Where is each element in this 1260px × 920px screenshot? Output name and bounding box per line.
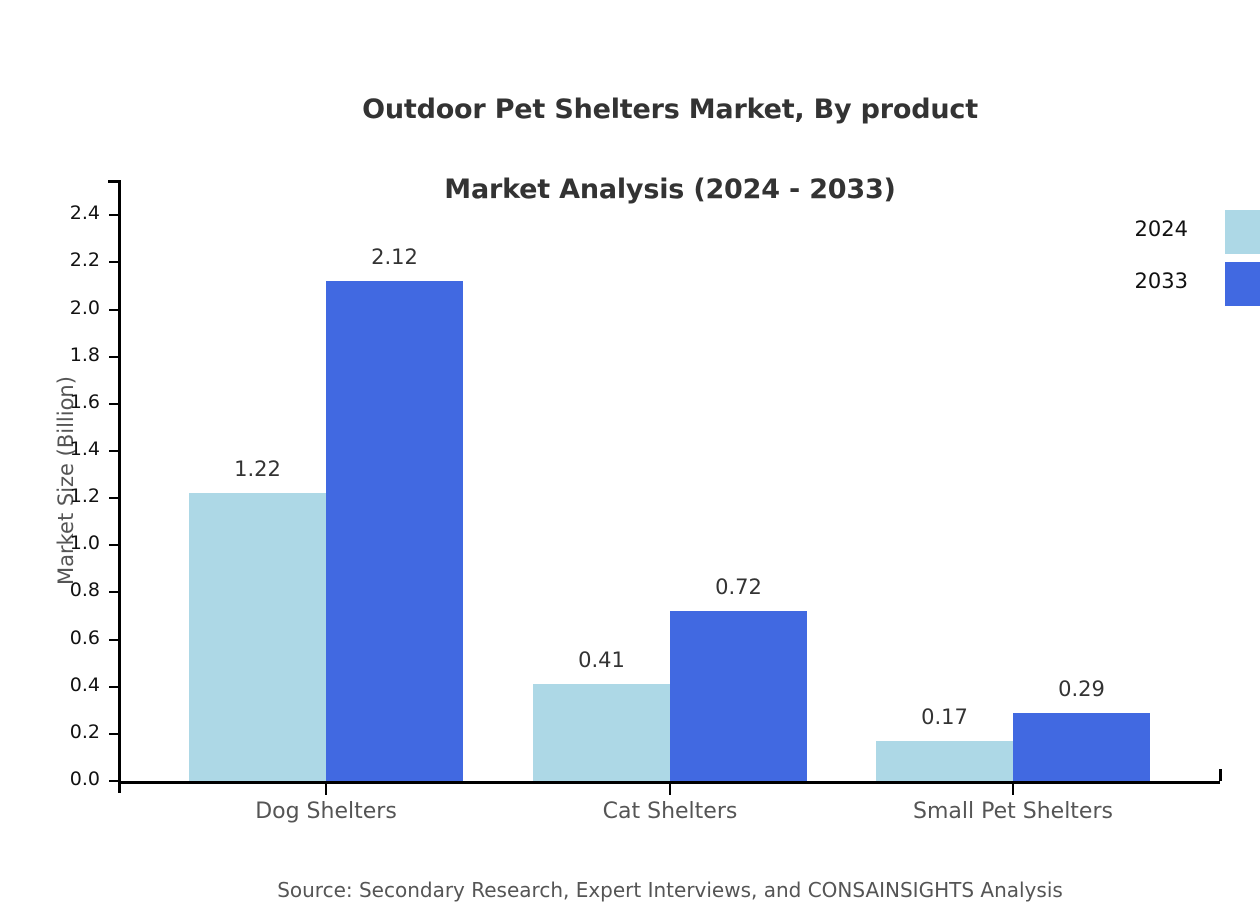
y-axis-line (118, 180, 121, 793)
legend-color-swatch (1225, 262, 1260, 306)
y-axis-tick-label: 1.2 (70, 485, 100, 507)
y-axis-tick (109, 686, 120, 688)
y-axis-tick (109, 497, 120, 499)
y-axis-tick-label: 1.0 (70, 532, 100, 554)
y-axis-tick (109, 450, 120, 452)
y-axis-top-cap (108, 180, 120, 183)
bar-value-label: 0.72 (659, 575, 819, 599)
x-axis-end-cap (1219, 769, 1222, 781)
y-axis-tick-label: 0.4 (70, 674, 100, 696)
y-axis-tick (109, 639, 120, 641)
y-axis-tick (109, 214, 120, 216)
bar-value-label: 0.29 (1002, 677, 1162, 701)
legend-item-2033[interactable]: 2033 (1120, 262, 1260, 306)
chart-title-line-1: Outdoor Pet Shelters Market, By product (0, 90, 1260, 130)
x-axis-tick (1012, 784, 1014, 795)
y-axis-tick (109, 544, 120, 546)
y-axis-tick (109, 261, 120, 263)
legend-color-swatch (1225, 210, 1260, 254)
y-axis-tick-label: 2.0 (70, 297, 100, 319)
plot-area: Market Size (Billion) 0.00.20.40.60.81.0… (120, 180, 1220, 781)
x-axis-tick (325, 784, 327, 795)
y-axis-tick (109, 591, 120, 593)
y-axis-tick-label: 1.4 (70, 438, 100, 460)
x-axis-tick-label: Cat Shelters (510, 799, 830, 824)
y-axis-tick-label: 2.2 (70, 249, 100, 271)
legend-item-2024[interactable]: 2024 (1120, 210, 1260, 254)
source-note: Source: Secondary Research, Expert Inter… (0, 878, 1260, 902)
y-axis-tick (109, 733, 120, 735)
x-axis-tick (669, 784, 671, 795)
y-axis-tick-label: 2.4 (70, 202, 100, 224)
bar-value-label: 1.22 (178, 457, 338, 481)
legend-label: 2033 (1135, 269, 1188, 293)
legend-label: 2024 (1135, 217, 1188, 241)
bar[interactable] (876, 741, 1013, 781)
bar-value-label: 0.17 (865, 705, 1025, 729)
x-axis-tick-label: Small Pet Shelters (853, 799, 1173, 824)
y-axis-tick (109, 403, 120, 405)
y-axis-tick-label: 0.6 (70, 627, 100, 649)
y-axis-tick (109, 780, 120, 782)
y-axis-tick-label: 1.8 (70, 344, 100, 366)
bar-value-label: 0.41 (522, 648, 682, 672)
chart-legend: 20242033 (1120, 210, 1260, 310)
bar[interactable] (326, 281, 463, 781)
y-axis-tick-label: 1.6 (70, 391, 100, 413)
bar[interactable] (533, 684, 670, 781)
bar-chart-figure: Outdoor Pet Shelters Market, By product … (0, 0, 1260, 920)
y-axis-tick (109, 356, 120, 358)
y-axis-tick-label: 0.8 (70, 579, 100, 601)
x-axis-tick-label: Dog Shelters (166, 799, 486, 824)
bar[interactable] (1013, 713, 1150, 781)
y-axis-tick-label: 0.0 (70, 768, 100, 790)
bar[interactable] (670, 611, 807, 781)
y-axis-tick-label: 0.2 (70, 721, 100, 743)
y-axis-tick (109, 309, 120, 311)
bar[interactable] (189, 493, 326, 781)
bar-value-label: 2.12 (315, 245, 475, 269)
